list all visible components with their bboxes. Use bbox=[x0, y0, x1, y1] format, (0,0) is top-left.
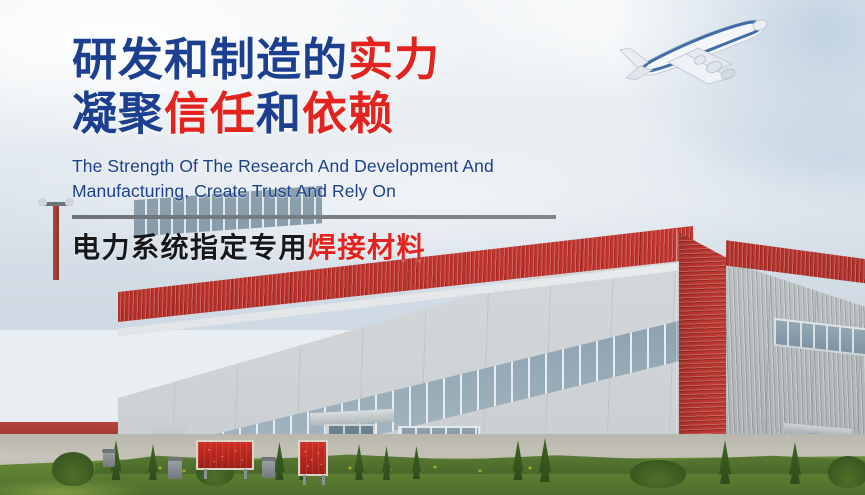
divider-rule bbox=[72, 215, 556, 219]
trash-bin-center bbox=[262, 460, 275, 478]
street-lamp-post bbox=[53, 204, 59, 280]
tagline-red: 焊接材料 bbox=[308, 231, 426, 264]
notice-board-leg bbox=[303, 475, 306, 485]
trash-bin-right bbox=[168, 460, 182, 479]
headline-line-2-dark-a: 凝聚 bbox=[72, 87, 164, 140]
notice-board-leg bbox=[204, 469, 207, 479]
banner-tagline: 电力系统指定专用焊接材料 bbox=[72, 231, 672, 265]
notice-board-graphics bbox=[300, 442, 326, 474]
headline-line-2-red-b: 依赖 bbox=[302, 87, 394, 140]
headline-line-1-red: 实力 bbox=[348, 33, 440, 86]
round-shrub bbox=[630, 460, 686, 488]
notice-board-leg bbox=[244, 469, 247, 479]
headline-line-1: 研发和制造的实力 bbox=[72, 34, 672, 86]
headline-line-1-dark: 研发和制造的 bbox=[72, 33, 348, 86]
round-shrub bbox=[52, 452, 94, 486]
banner-copy: 研发和制造的实力 凝聚信任和依赖 The Strength Of The Res… bbox=[72, 34, 672, 265]
tagline-dark: 电力系统指定专用 bbox=[72, 231, 308, 264]
promotional-banner: 研发和制造的实力 凝聚信任和依赖 The Strength Of The Res… bbox=[0, 0, 865, 495]
red-notice-board-wide[interactable] bbox=[196, 440, 254, 470]
red-notice-board-tall[interactable] bbox=[298, 440, 328, 476]
headline-line-2: 凝聚信任和依赖 bbox=[72, 88, 672, 140]
street-lamp-head-left bbox=[38, 198, 47, 206]
banner-subtitle: The Strength Of The Research And Develop… bbox=[72, 154, 577, 204]
round-shrub bbox=[828, 456, 865, 488]
headline-line-2-dark-b: 和 bbox=[256, 87, 302, 140]
notice-board-graphics bbox=[198, 442, 252, 468]
trash-bin-left bbox=[103, 452, 115, 467]
notice-board-leg bbox=[322, 475, 325, 485]
headline-line-2-red-a: 信任 bbox=[164, 87, 256, 140]
